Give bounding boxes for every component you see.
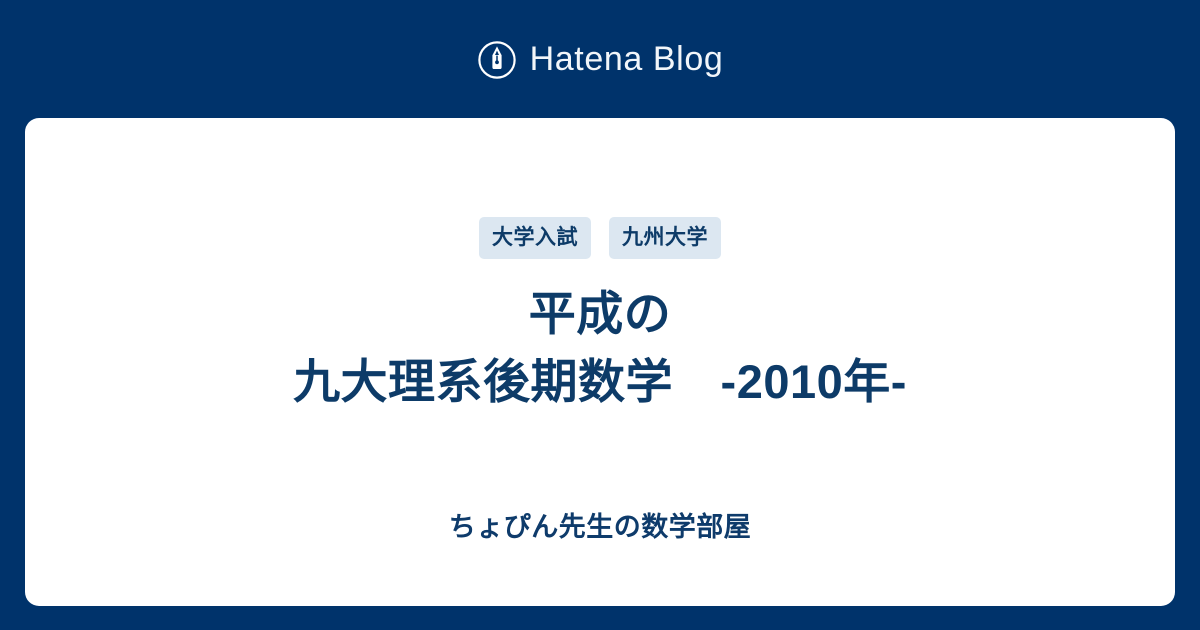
entry-title-line-1: 平成の — [100, 280, 1100, 348]
blog-name: ちょぴん先生の数学部屋 — [25, 514, 1175, 541]
hatena-blog-brand: Hatena Blog — [0, 0, 1200, 118]
hatena-pen-nib-circle-icon — [477, 40, 517, 80]
entry-card: 大学入試 九州大学 平成の 九大理系後期数学 -2010年- ちょぴん先生の数学… — [25, 118, 1175, 606]
entry-tag-kyushu-daigaku[interactable]: 九州大学 — [609, 217, 721, 259]
hatena-blog-og-card: { "theme": { "background_color": "#00336… — [0, 0, 1200, 630]
entry-title-line-2: 九大理系後期数学 -2010年- — [100, 348, 1100, 416]
entry-tag-list: 大学入試 九州大学 — [479, 218, 721, 258]
entry-tag-daigaku-nyushi[interactable]: 大学入試 — [479, 217, 591, 259]
brand-name: Hatena Blog — [530, 42, 724, 76]
entry-title: 平成の 九大理系後期数学 -2010年- — [100, 280, 1100, 416]
